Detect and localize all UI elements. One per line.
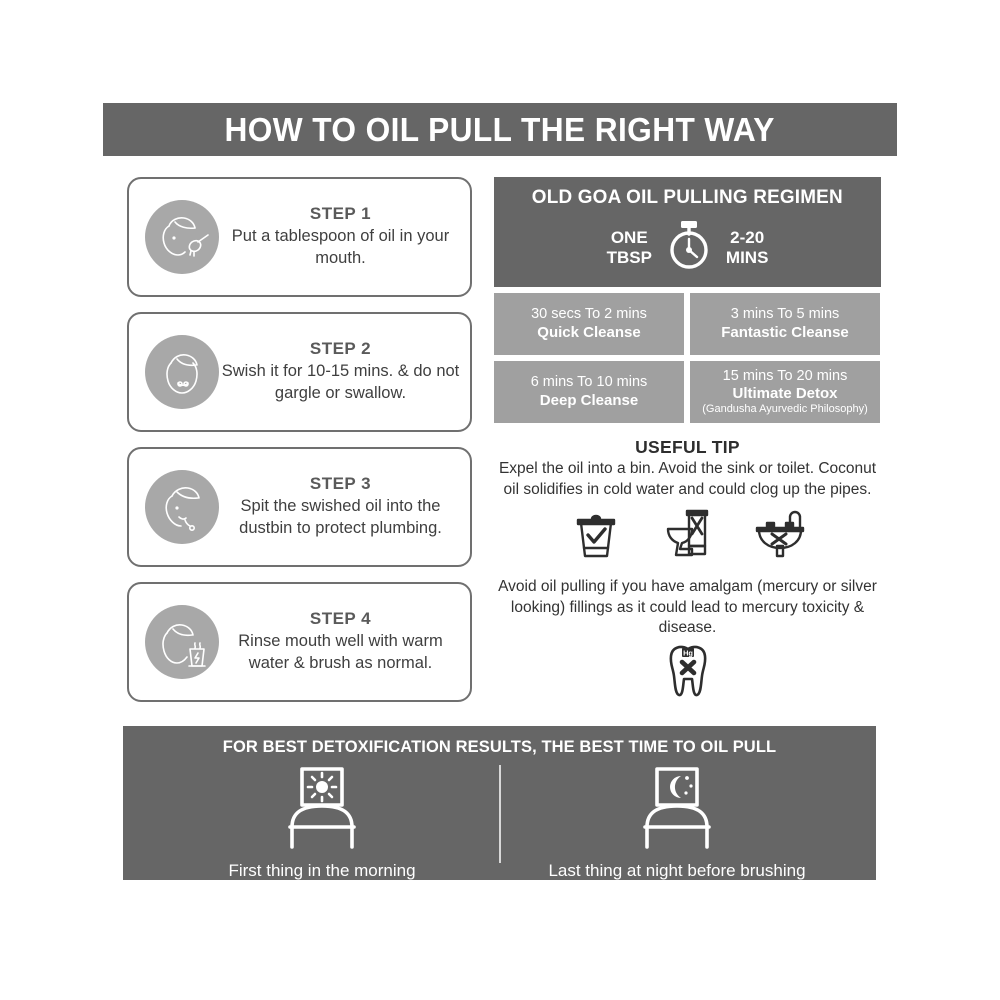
regimen-dose-right-line2: MINS xyxy=(726,248,769,267)
tile-range: 3 mins To 5 mins xyxy=(731,306,840,323)
regimen-dose-left-line2: TBSP xyxy=(607,248,652,267)
step-title: STEP 1 xyxy=(221,204,460,224)
step-description: Put a tablespoon of oil in your mouth. xyxy=(221,226,460,270)
tile-range: 30 secs To 2 mins xyxy=(531,306,647,323)
useful-tip-title: USEFUL TIP xyxy=(494,437,881,458)
face-with-glass-icon xyxy=(145,605,219,679)
regimen-title: OLD GOA OIL PULLING REGIMEN xyxy=(532,186,843,209)
banner-title: FOR BEST DETOXIFICATION RESULTS, THE BES… xyxy=(123,738,876,757)
step-title: STEP 4 xyxy=(221,609,460,629)
tile-name: Ultimate Detox xyxy=(732,385,837,403)
svg-text:Hg: Hg xyxy=(683,649,693,658)
bed-moon-icon xyxy=(631,765,723,856)
step-text: STEP 3 Spit the swished oil into the dus… xyxy=(219,474,470,540)
step-card: STEP 2 Swish it for 10-15 mins. & do not… xyxy=(127,312,472,432)
stopwatch-icon xyxy=(662,217,716,278)
step-description: Spit the swished oil into the dustbin to… xyxy=(221,496,460,540)
regimen-tiles: 30 secs To 2 mins Quick Cleanse 3 mins T… xyxy=(494,293,881,423)
regimen-dose-left: ONE TBSP xyxy=(607,228,652,266)
amalgam-warning-text: Avoid oil pulling if you have amalgam (m… xyxy=(494,577,881,639)
toilet-cross-icon xyxy=(662,508,714,565)
regimen-dose-right-line1: 2-20 xyxy=(726,228,769,247)
step-card: STEP 1 Put a tablespoon of oil in your m… xyxy=(127,177,472,297)
useful-tip-icons xyxy=(494,508,881,565)
useful-tip-body: Expel the oil into a bin. Avoid the sink… xyxy=(494,459,881,500)
regimen-header: OLD GOA OIL PULLING REGIMEN ONE TBSP xyxy=(494,177,881,287)
useful-tip-section: USEFUL TIP Expel the oil into a bin. Avo… xyxy=(494,437,881,699)
face-with-spoon-icon xyxy=(145,200,219,274)
page-title: HOW TO OIL PULL THE RIGHT WAY xyxy=(225,111,775,149)
step-card: STEP 3 Spit the swished oil into the dus… xyxy=(127,447,472,567)
face-swishing-icon xyxy=(145,335,219,409)
best-time-banner: FOR BEST DETOXIFICATION RESULTS, THE BES… xyxy=(123,726,876,880)
bed-sun-icon xyxy=(276,765,368,856)
banner-caption: First thing in the morning xyxy=(228,861,415,881)
steps-list: STEP 1 Put a tablespoon of oil in your m… xyxy=(127,177,472,717)
tile-name: Quick Cleanse xyxy=(537,324,640,342)
tile-subtitle: (Gandusha Ayurvedic Philosophy) xyxy=(702,403,868,416)
regimen-tile: 3 mins To 5 mins Fantastic Cleanse xyxy=(690,293,880,355)
step-description: Rinse mouth well with warm water & brush… xyxy=(221,631,460,675)
header-bar: HOW TO OIL PULL THE RIGHT WAY xyxy=(103,103,897,156)
step-title: STEP 3 xyxy=(221,474,460,494)
banner-divider xyxy=(499,765,501,863)
regimen-dose-right: 2-20 MINS xyxy=(726,228,769,266)
regimen-tile: 15 mins To 20 mins Ultimate Detox (Gandu… xyxy=(690,361,880,423)
regimen-tile: 30 secs To 2 mins Quick Cleanse xyxy=(494,293,684,355)
banner-item-morning: First thing in the morning xyxy=(150,765,495,881)
banner-columns: First thing in the morning xyxy=(123,765,876,881)
infographic-page: HOW TO OIL PULL THE RIGHT WAY xyxy=(0,0,1000,1000)
step-text: STEP 1 Put a tablespoon of oil in your m… xyxy=(219,204,470,270)
step-description: Swish it for 10-15 mins. & do not gargle… xyxy=(221,361,460,405)
banner-caption: Last thing at night before brushing xyxy=(548,861,805,881)
right-column: OLD GOA OIL PULLING REGIMEN ONE TBSP xyxy=(494,177,881,699)
banner-item-night: Last thing at night before brushing xyxy=(505,765,850,881)
tooth-amalgam-icon: Hg xyxy=(494,643,881,699)
regimen-dose-left-line1: ONE xyxy=(607,228,652,247)
regimen-tile: 6 mins To 10 mins Deep Cleanse xyxy=(494,361,684,423)
tile-range: 15 mins To 20 mins xyxy=(723,368,848,385)
tile-range: 6 mins To 10 mins xyxy=(531,374,648,391)
bin-check-icon xyxy=(570,508,622,565)
face-spitting-icon xyxy=(145,470,219,544)
step-text: STEP 4 Rinse mouth well with warm water … xyxy=(219,609,470,675)
step-title: STEP 2 xyxy=(221,339,460,359)
tile-name: Deep Cleanse xyxy=(540,392,638,410)
step-card: STEP 4 Rinse mouth well with warm water … xyxy=(127,582,472,702)
tile-name: Fantastic Cleanse xyxy=(721,324,849,342)
regimen-dose-row: ONE TBSP xyxy=(607,217,769,278)
sink-cross-icon xyxy=(754,508,806,565)
step-text: STEP 2 Swish it for 10-15 mins. & do not… xyxy=(219,339,470,405)
